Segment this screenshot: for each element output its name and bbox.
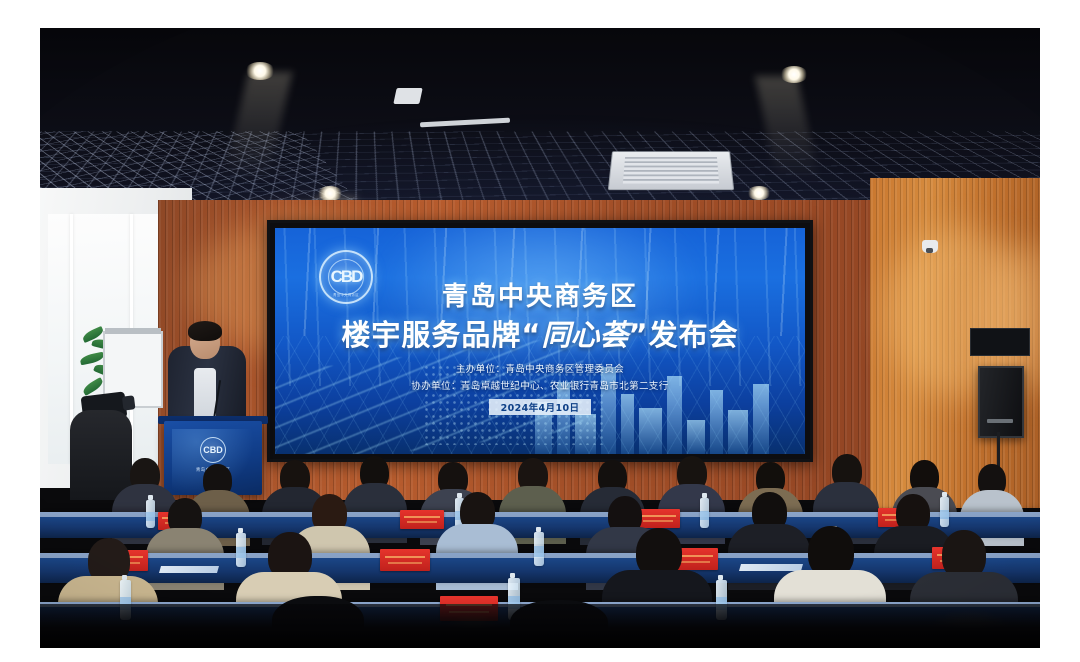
speaker-hair <box>188 321 222 341</box>
quote-open: “ <box>521 318 541 352</box>
document-paper <box>739 564 803 571</box>
ceiling-spotlight <box>747 186 771 200</box>
screen-title-line-1: 青岛中央商务区 <box>275 276 805 313</box>
name-card <box>636 509 680 528</box>
audience-area <box>40 420 1040 648</box>
foreground-shadow-band <box>40 604 1040 648</box>
photo-page: CBD 青岛中央商务区 青岛中央商务区 楼宇服务品牌“同心荟”发布会 主办单位：… <box>0 0 1080 662</box>
ceiling-spotlight <box>245 62 275 80</box>
projector-icon <box>393 88 422 104</box>
name-card <box>380 549 430 571</box>
document-paper <box>159 566 219 573</box>
name-card <box>400 510 444 529</box>
water-bottle <box>236 533 246 567</box>
ac-vent-icon <box>608 151 734 190</box>
ceiling-spotlight <box>780 66 808 83</box>
event-date: 2024年4月10日 <box>489 399 592 415</box>
water-bottle <box>700 498 709 528</box>
coorganizer-line: 协办单位：青岛卓越世纪中心、农业银行青岛市北第二支行 <box>275 378 805 392</box>
brand-name: 同心荟 <box>541 318 628 352</box>
wall-monitor <box>970 328 1030 356</box>
conference-photograph: CBD 青岛中央商务区 青岛中央商务区 楼宇服务品牌“同心荟”发布会 主办单位：… <box>40 28 1040 648</box>
ceiling-spotlight <box>317 186 343 201</box>
organizer-line: 主办单位：青岛中央商务区管理委员会 <box>275 361 805 375</box>
title-suffix: 发布会 <box>649 318 739 352</box>
event-date-wrap: 2024年4月10日 <box>275 398 805 416</box>
title-prefix: 楼宇服务品牌 <box>341 318 521 352</box>
water-bottle <box>146 500 155 528</box>
water-bottle <box>940 497 949 527</box>
water-bottle <box>534 532 544 566</box>
quote-close: ” <box>629 318 649 352</box>
screen-title-line-2: 楼宇服务品牌“同心荟”发布会 <box>275 312 805 354</box>
cctv-camera-icon <box>922 240 938 253</box>
